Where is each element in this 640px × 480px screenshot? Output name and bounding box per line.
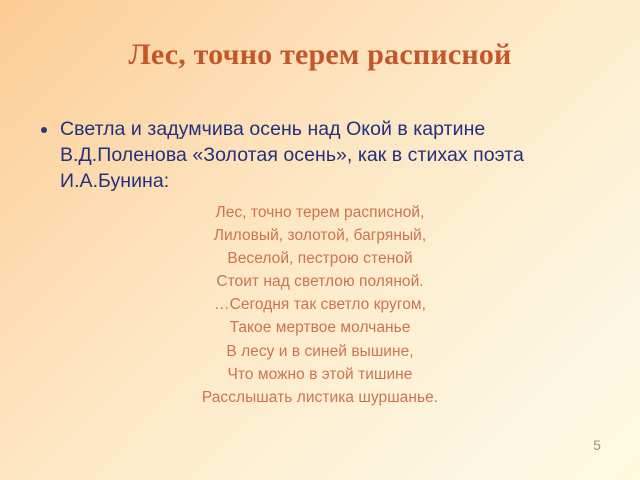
- bullet-item-label: Светла и задумчива осень над Окой в карт…: [60, 118, 524, 192]
- bullet-point-icon: [41, 127, 47, 133]
- poem-line: Стоит над светлою поляной.: [0, 270, 640, 293]
- slide-title: Лес, точно терем расписной: [0, 38, 640, 72]
- poem-line: Лиловый, золотой, багряный,: [0, 224, 640, 247]
- poem-line: Такое мертвое молчанье: [0, 316, 640, 339]
- bullet-list-item: Светла и задумчива осень над Окой в карт…: [34, 116, 604, 194]
- poem-block: Лес, точно терем расписной, Лиловый, зол…: [0, 201, 640, 409]
- poem-line: Веселой, пестрою стеной: [0, 247, 640, 270]
- poem-line: Лес, точно терем расписной,: [0, 201, 640, 224]
- slide-canvas: Лес, точно терем расписной Светла и заду…: [0, 0, 640, 480]
- poem-line: Что можно в этой тишине: [0, 363, 640, 386]
- poem-line: Расслышать листика шуршанье.: [0, 386, 640, 409]
- page-number: 5: [586, 437, 608, 453]
- body-text-block: Светла и задумчива осень над Окой в карт…: [34, 116, 604, 194]
- poem-line: В лесу и в синей вышине,: [0, 340, 640, 363]
- poem-line: …Сегодня так светло кругом,: [0, 293, 640, 316]
